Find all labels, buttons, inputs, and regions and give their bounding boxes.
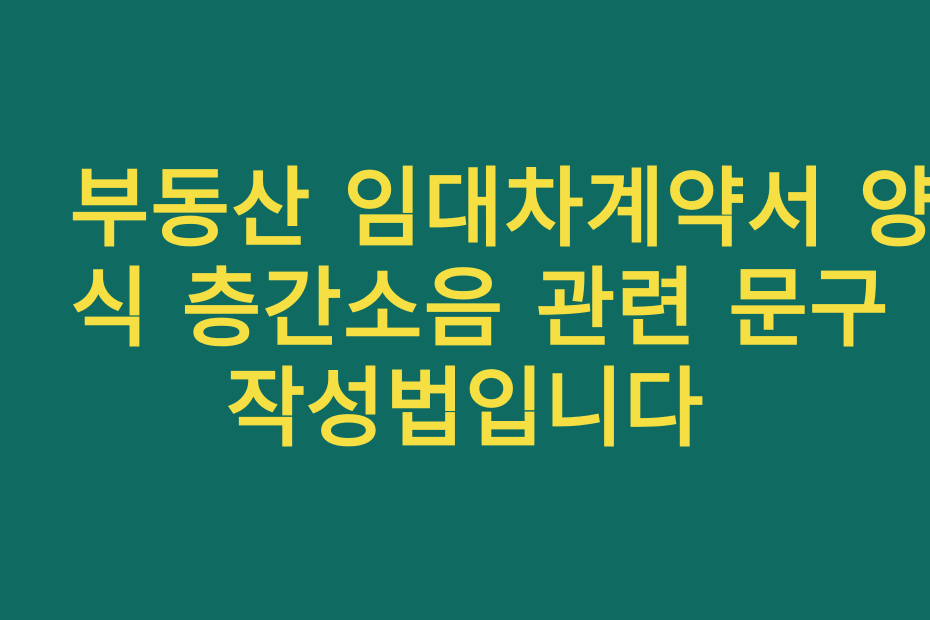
headline-line-2: 식 층간소음 관련 문구 xyxy=(70,259,860,359)
headline-line-1: 부동산 임대차계약서 양 xyxy=(70,159,860,259)
title-card: 부동산 임대차계약서 양 식 층간소음 관련 문구 작성법입니다 xyxy=(0,0,930,620)
page-title: 부동산 임대차계약서 양 식 층간소음 관련 문구 작성법입니다 xyxy=(70,159,860,459)
headline-line-3: 작성법입니다 xyxy=(70,359,860,459)
